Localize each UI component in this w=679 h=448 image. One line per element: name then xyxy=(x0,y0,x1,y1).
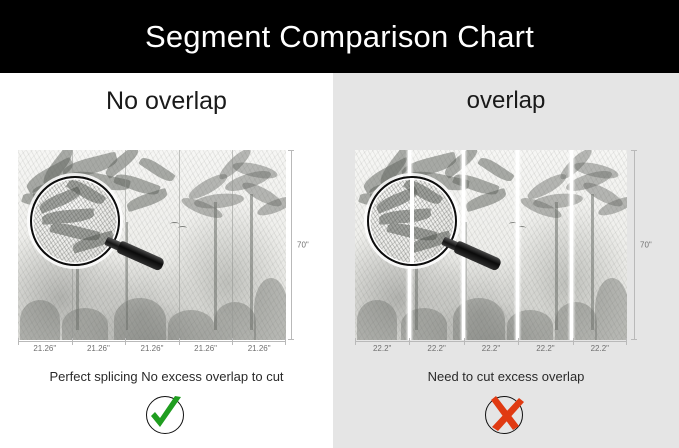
segment-width-label: 21.26" xyxy=(72,343,126,355)
check-icon xyxy=(144,393,190,439)
segment-width-label: 22.2" xyxy=(518,343,572,355)
overlap-seam-gap xyxy=(462,150,465,340)
width-dimension-no-overlap: 21.26" 21.26" 21.26" 21.26" 21.26" xyxy=(18,341,286,361)
overlap-seam-gap xyxy=(408,150,411,340)
dimension-line-vertical xyxy=(634,150,635,340)
segment-width-label: 22.2" xyxy=(573,343,627,355)
mural-figure-no-overlap xyxy=(18,150,286,340)
panel-seam xyxy=(179,150,180,340)
height-dimension-overlap: 70" xyxy=(633,150,659,340)
engraving-hatch-texture xyxy=(355,150,627,340)
dimension-cap xyxy=(288,339,294,340)
panel-seam xyxy=(232,150,233,340)
verdict-no-overlap xyxy=(0,393,333,439)
overlap-seam-gap xyxy=(516,150,519,340)
caption-no-overlap: Perfect splicing No excess overlap to cu… xyxy=(0,370,333,383)
overlap-seam-gap xyxy=(570,150,573,340)
segment-width-label: 21.26" xyxy=(125,343,179,355)
panel-heading-no-overlap: No overlap xyxy=(0,89,333,114)
title-banner: Segment Comparison Chart xyxy=(0,0,679,73)
segment-width-label: 21.26" xyxy=(232,343,286,355)
segment-width-label: 21.26" xyxy=(179,343,233,355)
panel-no-overlap: No overlap xyxy=(0,73,333,448)
cross-icon xyxy=(483,393,529,439)
panel-seam xyxy=(125,150,126,340)
comparison-panels: No overlap xyxy=(0,73,679,448)
cross-glyph xyxy=(483,393,529,439)
check-glyph xyxy=(144,393,190,439)
dimension-cap xyxy=(631,339,637,340)
mural-image-overlap xyxy=(355,150,627,340)
mural-image-no-overlap xyxy=(18,150,286,340)
segment-width-label: 21.26" xyxy=(18,343,72,355)
segment-width-label: 22.2" xyxy=(464,343,518,355)
segment-width-label: 22.2" xyxy=(409,343,463,355)
mural-figure-overlap xyxy=(355,150,627,340)
page-title: Segment Comparison Chart xyxy=(145,21,534,52)
panel-height-label: 70" xyxy=(640,241,652,250)
dimension-line xyxy=(355,341,627,342)
panel-seam xyxy=(72,150,73,340)
segment-width-label: 22.2" xyxy=(355,343,409,355)
caption-overlap: Need to cut excess overlap xyxy=(333,370,679,383)
dimension-cap xyxy=(631,150,637,151)
dimension-line xyxy=(18,341,286,342)
panel-height-label: 70" xyxy=(297,241,309,250)
width-dimension-overlap: 22.2" 22.2" 22.2" 22.2" 22.2" xyxy=(355,341,627,361)
panel-overlap: overlap xyxy=(333,73,679,448)
verdict-overlap xyxy=(333,393,679,439)
dimension-line-vertical xyxy=(291,150,292,340)
panel-heading-overlap: overlap xyxy=(333,89,679,113)
engraving-hatch-texture xyxy=(18,150,286,340)
dimension-cap xyxy=(288,150,294,151)
height-dimension-no-overlap: 70" xyxy=(290,150,316,340)
